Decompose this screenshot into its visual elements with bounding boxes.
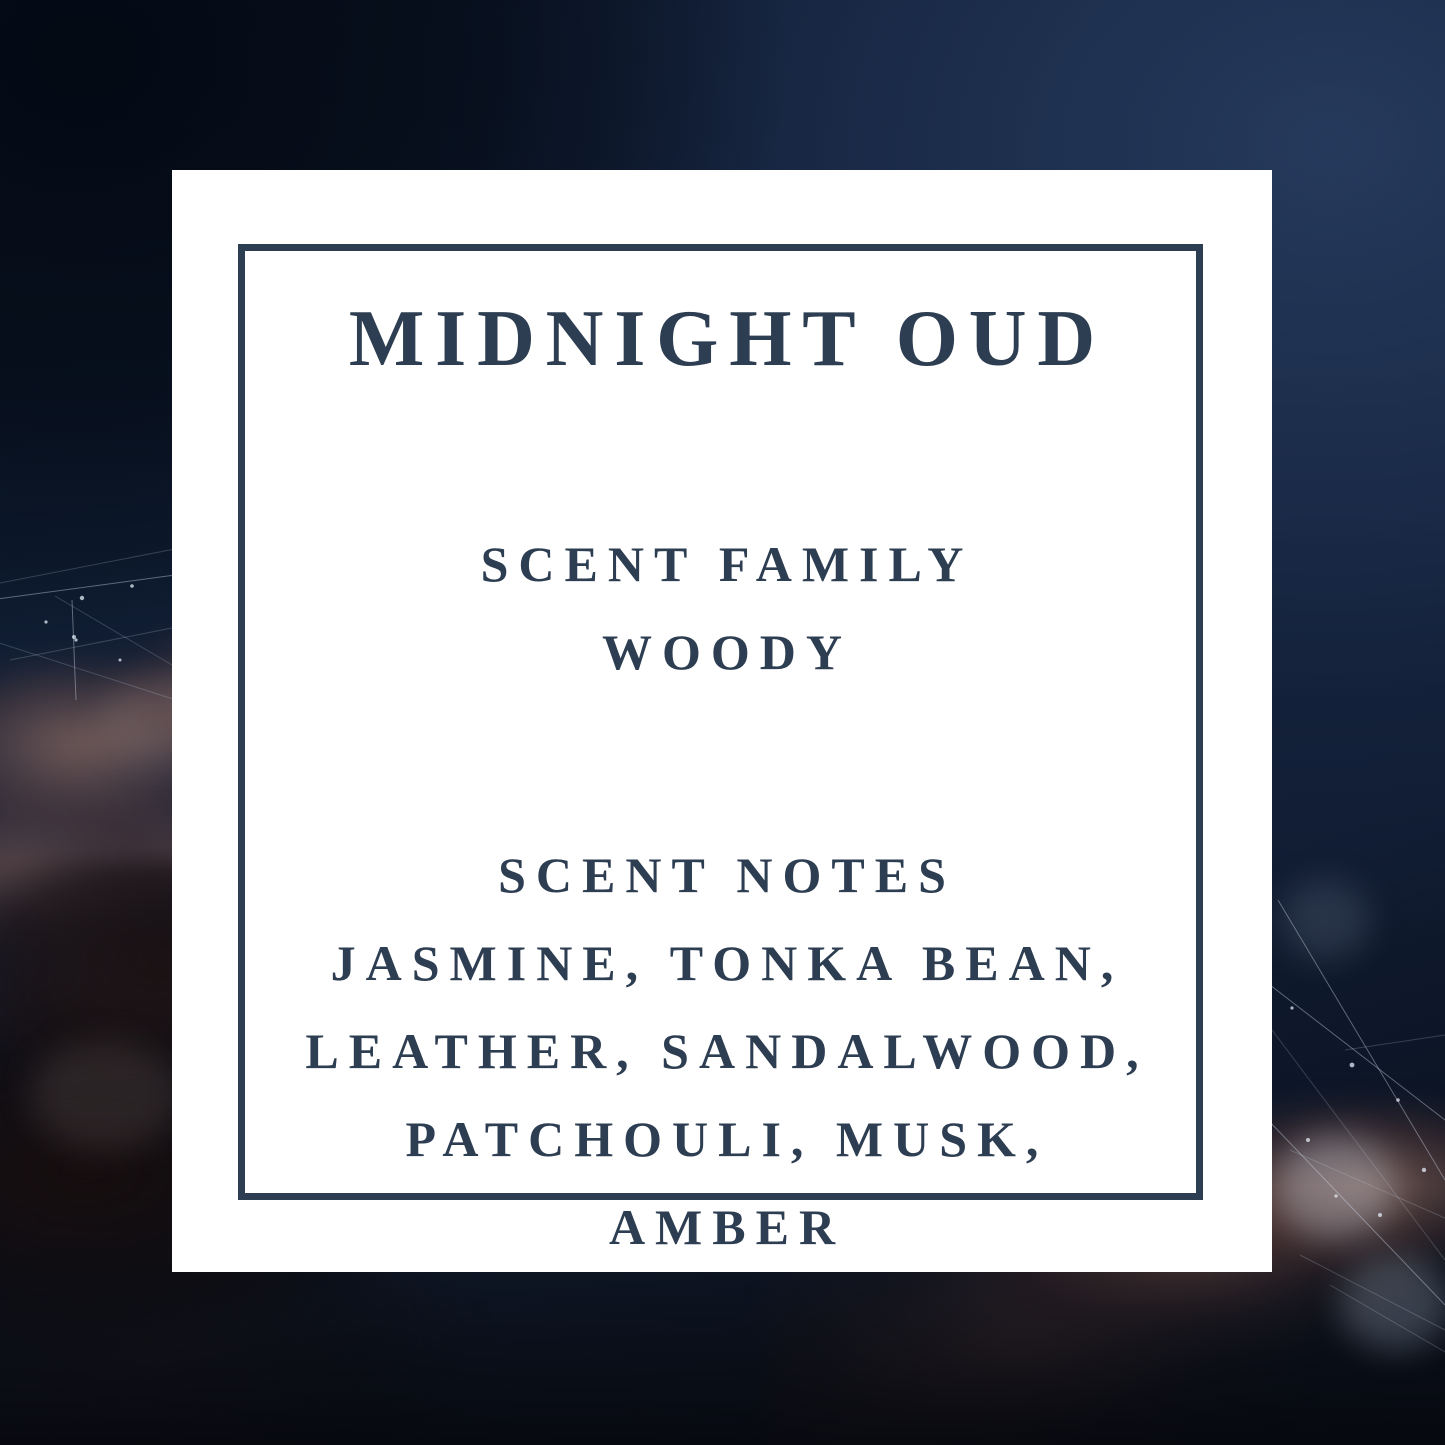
scent-notes-heading: SCENT NOTES bbox=[172, 831, 1272, 919]
white-card: MIDNIGHT OUD SCENT FAMILY WOODY SCENT NO… bbox=[172, 170, 1272, 1272]
scent-notes-section: SCENT NOTES JASMINE, TONKA BEAN, LEATHER… bbox=[172, 831, 1272, 1271]
scent-notes-line: LEATHER, SANDALWOOD, bbox=[172, 1007, 1272, 1095]
scent-family-section: SCENT FAMILY WOODY bbox=[172, 520, 1272, 696]
scent-notes-line: AMBER bbox=[172, 1183, 1272, 1271]
scent-family-value: WOODY bbox=[172, 608, 1272, 696]
page-title: MIDNIGHT OUD bbox=[338, 299, 1106, 379]
card-content: MIDNIGHT OUD SCENT FAMILY WOODY SCENT NO… bbox=[172, 170, 1272, 1272]
scent-notes-line: JASMINE, TONKA BEAN, bbox=[172, 919, 1272, 1007]
scent-notes-line: PATCHOULI, MUSK, bbox=[172, 1095, 1272, 1183]
scent-family-heading: SCENT FAMILY bbox=[172, 520, 1272, 608]
product-scent-card-image: MIDNIGHT OUD SCENT FAMILY WOODY SCENT NO… bbox=[0, 0, 1445, 1445]
